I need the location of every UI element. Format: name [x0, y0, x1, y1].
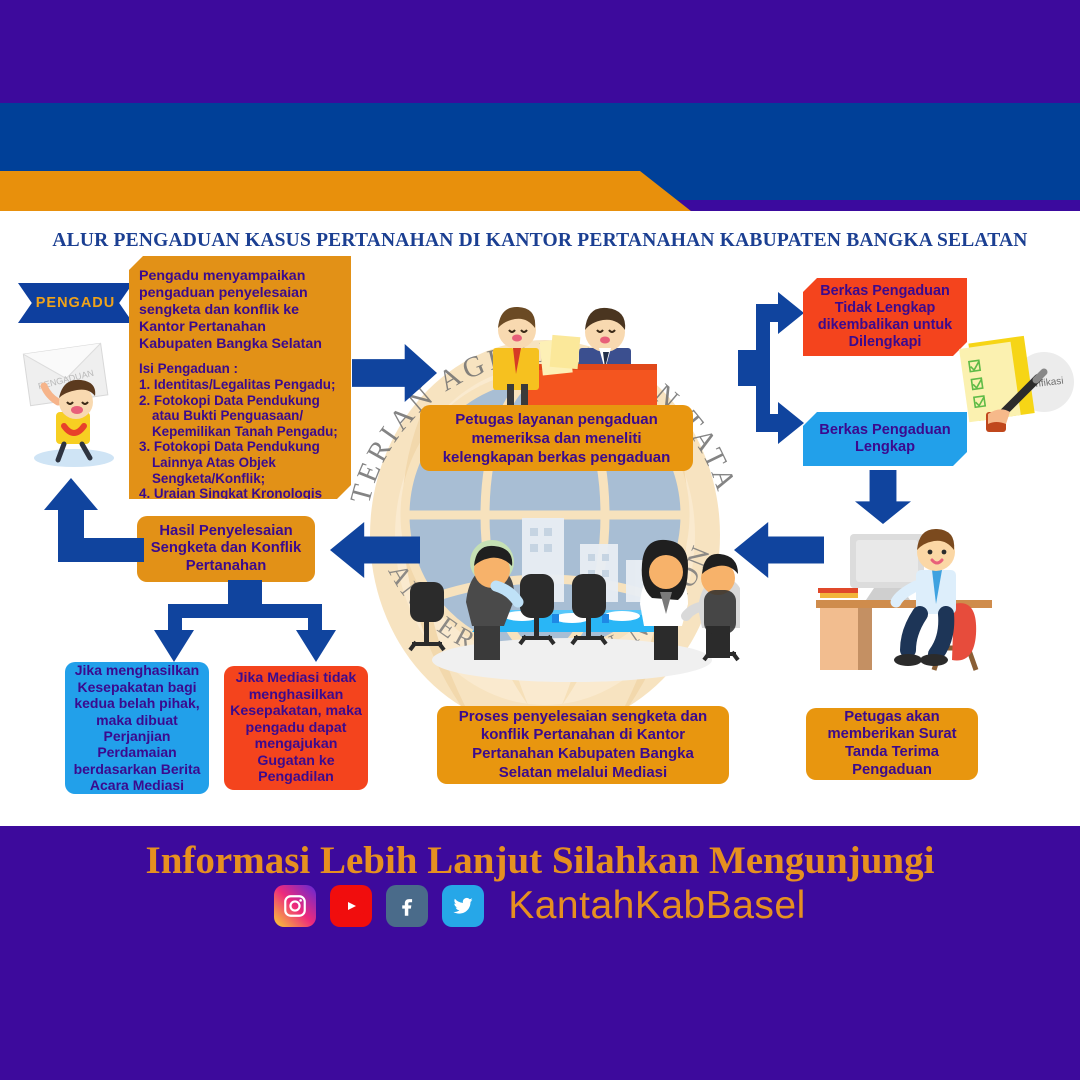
box-berkas-lengkap: Berkas Pengaduan Lengkap: [803, 412, 967, 466]
box-surat-tanda-terima-text: Petugas akan memberikan Surat Tanda Teri…: [814, 709, 970, 779]
social-handle: KantahKabBasel: [508, 884, 806, 928]
box-pengadu-detail-item-3: 3. Fotokopi Data Pendukung Lainnya Atas …: [139, 439, 341, 486]
facebook-icon[interactable]: [386, 885, 428, 927]
box-berkas-tidak-lengkap: Berkas Pengaduan Tidak Lengkap dikembali…: [803, 278, 967, 356]
box-petugas-periksa: Petugas layanan pengaduan memeriksa dan …: [420, 405, 693, 471]
page-title: ALUR PENGADUAN KASUS PERTANAHAN DI KANTO…: [0, 230, 1080, 252]
box-pengadu-detail-item-2: 2. Fotokopi Data Pendukung atau Bukti Pe…: [139, 393, 341, 440]
box-pengadu-detail-list-title: Isi Pengaduan :: [139, 361, 341, 377]
pengadu-ribbon-label: PENGADU: [36, 295, 116, 311]
box-hasil-penyelesaian-text: Hasil Penyelesaian Sengketa dan Konflik …: [145, 523, 307, 576]
box-proses-mediasi: Proses penyelesaian sengketa dan konflik…: [437, 706, 729, 784]
box-pengadu-detail-item-1: 1. Identitas/Legalitas Pengadu;: [139, 377, 341, 393]
youtube-icon[interactable]: [330, 885, 372, 927]
box-berkas-lengkap-text: Berkas Pengaduan Lengkap: [811, 422, 959, 456]
footer-bottom-band: [0, 960, 1080, 1080]
box-kesepakatan: Jika menghasilkan Kesepakatan bagi kedua…: [65, 662, 209, 794]
box-berkas-tidak-lengkap-text: Berkas Pengaduan Tidak Lengkap dikembali…: [811, 283, 959, 351]
footer-headline: Informasi Lebih Lanjut Silahkan Mengunju…: [0, 838, 1080, 883]
social-row: KantahKabBasel: [0, 884, 1080, 928]
box-pengadu-detail-heading: Pengadu menyampaikan pengaduan penyelesa…: [139, 268, 341, 353]
pengadu-ribbon: PENGADU: [18, 283, 133, 323]
box-pengadu-detail: Pengadu menyampaikan pengaduan penyelesa…: [129, 256, 351, 499]
header-band-blue: [0, 103, 1080, 171]
box-petugas-periksa-text: Petugas layanan pengaduan memeriksa dan …: [430, 410, 683, 467]
twitter-icon[interactable]: [442, 885, 484, 927]
infographic-page: ALUR PENGADUAN KASUS PERTANAHAN DI KANTO…: [0, 0, 1080, 1080]
box-tidak-kesepakatan: Jika Mediasi tidak menghasilkan Kesepaka…: [224, 666, 368, 790]
box-hasil-penyelesaian: Hasil Penyelesaian Sengketa dan Konflik …: [137, 516, 315, 582]
box-kesepakatan-text: Jika menghasilkan Kesepakatan bagi kedua…: [71, 662, 203, 793]
header-band-purple: [0, 0, 1080, 103]
box-proses-mediasi-text: Proses penyelesaian sengketa dan konflik…: [447, 708, 719, 782]
box-surat-tanda-terima: Petugas akan memberikan Surat Tanda Teri…: [806, 708, 978, 780]
instagram-icon[interactable]: [274, 885, 316, 927]
header-band-orange-left: [0, 171, 620, 211]
box-tidak-kesepakatan-text: Jika Mediasi tidak menghasilkan Kesepaka…: [230, 670, 362, 786]
